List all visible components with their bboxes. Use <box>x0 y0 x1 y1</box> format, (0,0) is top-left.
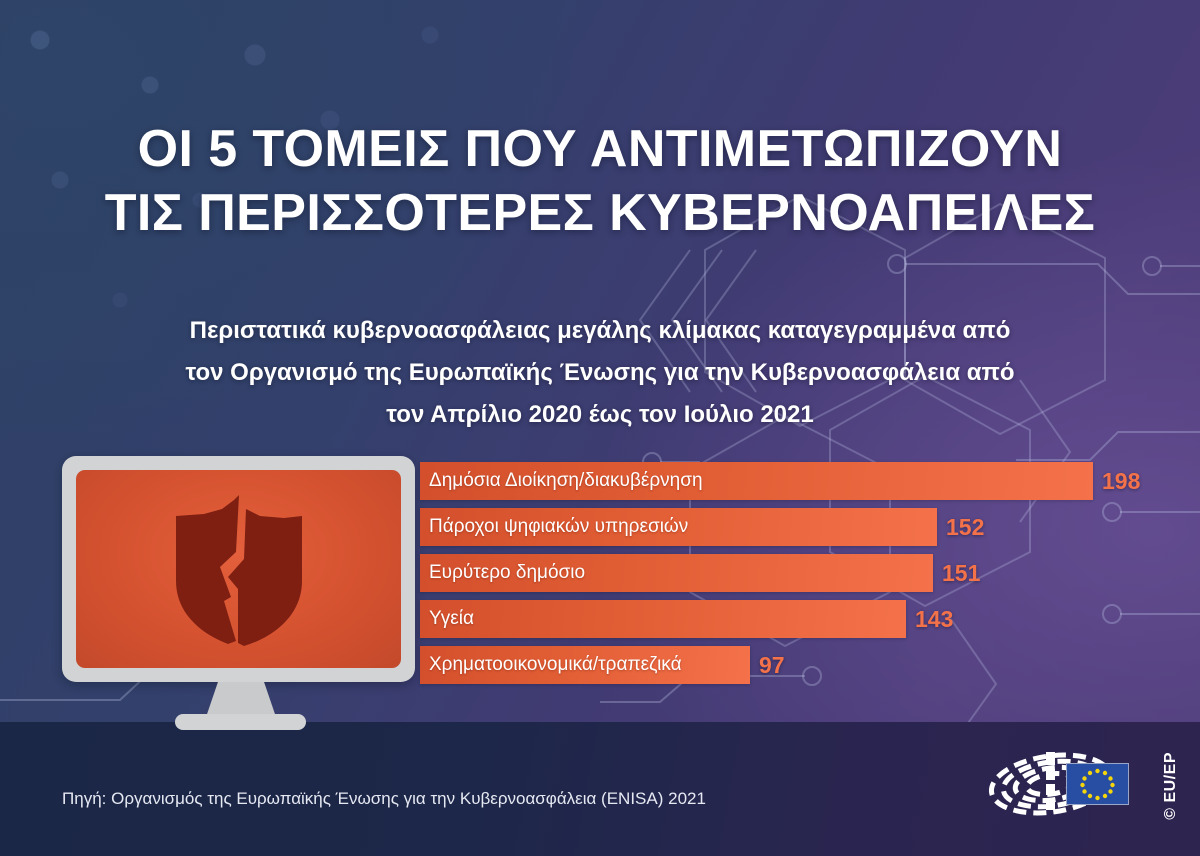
monitor-illustration <box>62 456 415 682</box>
chart-bar-value-0: 198 <box>1102 468 1140 495</box>
subtitle-line-3: τον Απρίλιο 2020 έως τον Ιούλιο 2021 <box>70 394 1130 436</box>
chart-bar-row-2: Ευρύτερο δημόσιο 151 <box>420 554 980 592</box>
subtitle-line-1: Περιστατικά κυβερνοασφάλειας μεγάλης κλί… <box>70 310 1130 352</box>
chart-bar-label-2: Ευρύτερο δημόσιο <box>420 562 585 584</box>
bar-chart: Δημόσια Διοίκηση/διακυβέρνηση 198 Πάροχο… <box>420 456 1160 682</box>
chart-bar-value-1: 152 <box>946 514 984 541</box>
chart-bar-1: Πάροχοι ψηφιακών υπηρεσιών <box>420 508 937 546</box>
chart-bar-label-4: Χρηματοοικονομικά/τραπεζικά <box>420 654 682 676</box>
chart-bar-4: Χρηματοοικονομικά/τραπεζικά <box>420 646 750 684</box>
infographic-poster: ΟΙ 5 ΤΟΜΕΙΣ ΠΟΥ ΑΝΤΙΜΕΤΩΠΙΖΟΥΝ ΤΙΣ ΠΕΡΙΣ… <box>0 0 1200 856</box>
european-parliament-logo: © EU/EP <box>985 748 1160 826</box>
chart-bar-label-1: Πάροχοι ψηφιακών υπηρεσιών <box>420 516 688 538</box>
chart-bar-3: Υγεία <box>420 600 906 638</box>
broken-shield-icon <box>76 470 401 668</box>
copyright-label: © EU/EP <box>1162 752 1180 820</box>
eu-flag-icon <box>1066 763 1129 805</box>
chart-bar-label-3: Υγεία <box>420 608 474 630</box>
chart-bar-label-0: Δημόσια Διοίκηση/διακυβέρνηση <box>420 470 703 492</box>
monitor-screen <box>76 470 401 668</box>
chart-bar-row-0: Δημόσια Διοίκηση/διακυβέρνηση 198 <box>420 462 1140 500</box>
chart-bar-row-4: Χρηματοοικονομικά/τραπεζικά 97 <box>420 646 785 684</box>
chart-bar-0: Δημόσια Διοίκηση/διακυβέρνηση <box>420 462 1093 500</box>
chart-bar-row-3: Υγεία 143 <box>420 600 953 638</box>
subtitle: Περιστατικά κυβερνοασφάλειας μεγάλης κλί… <box>70 310 1130 436</box>
monitor-stand-base <box>175 714 306 730</box>
chart-bar-value-3: 143 <box>915 606 953 633</box>
subtitle-line-2: τον Οργανισμό της Ευρωπαϊκής Ένωσης για … <box>70 352 1130 394</box>
title-line-1: ΟΙ 5 ΤΟΜΕΙΣ ΠΟΥ ΑΝΤΙΜΕΤΩΠΙΖΟΥΝ <box>0 117 1200 181</box>
chart-bar-value-4: 97 <box>759 652 785 679</box>
chart-bar-row-1: Πάροχοι ψηφιακών υπηρεσιών 152 <box>420 508 984 546</box>
chart-bar-value-2: 151 <box>942 560 980 587</box>
source-note: Πηγή: Οργανισμός της Ευρωπαϊκής Ένωσης γ… <box>62 789 706 809</box>
page-title: ΟΙ 5 ΤΟΜΕΙΣ ΠΟΥ ΑΝΤΙΜΕΤΩΠΙΖΟΥΝ ΤΙΣ ΠΕΡΙΣ… <box>0 117 1200 245</box>
chart-bar-2: Ευρύτερο δημόσιο <box>420 554 933 592</box>
title-line-2: ΤΙΣ ΠΕΡΙΣΣΟΤΕΡΕΣ ΚΥΒΕΡΝΟΑΠΕΙΛΕΣ <box>0 181 1200 245</box>
